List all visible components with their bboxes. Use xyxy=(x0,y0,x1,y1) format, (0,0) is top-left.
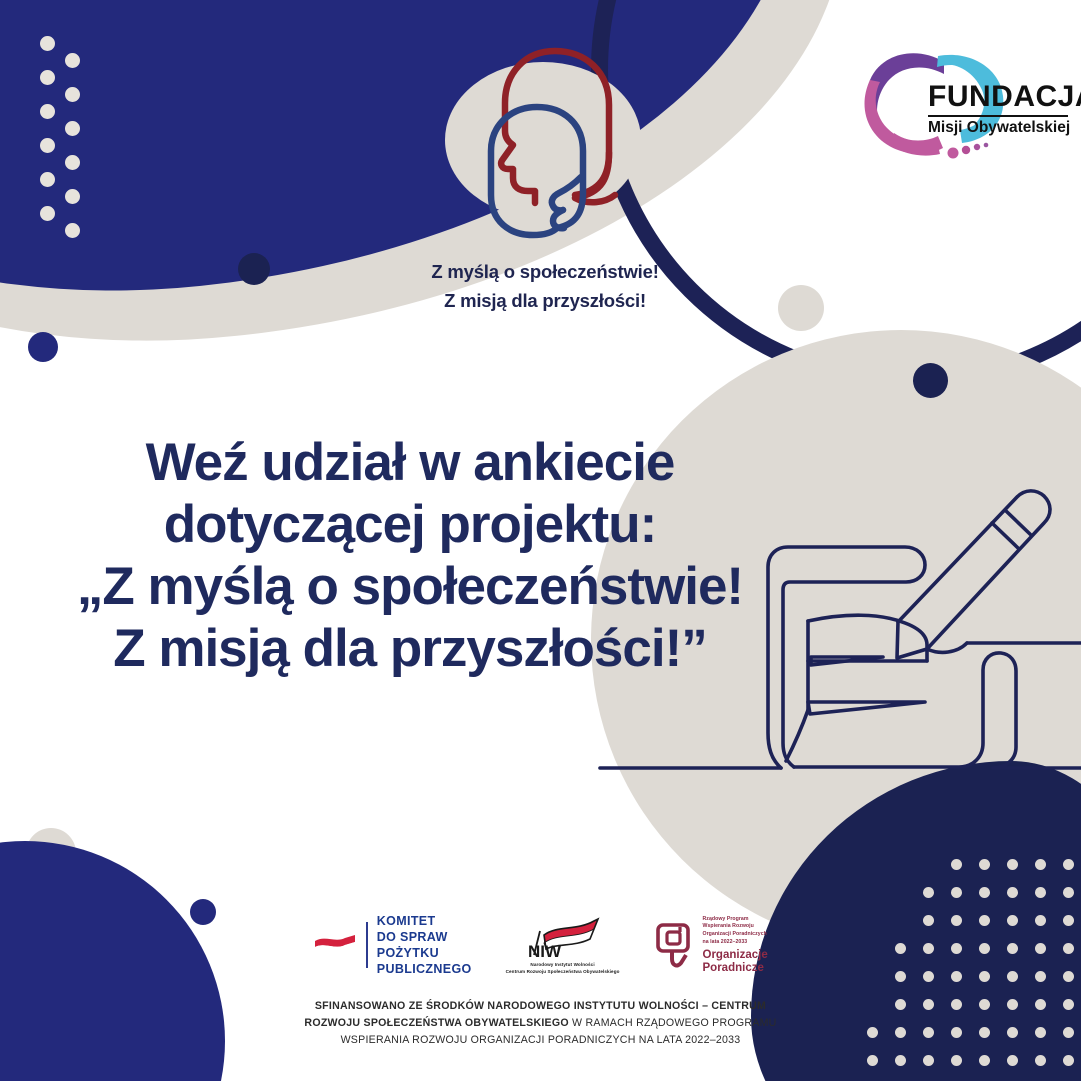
orgpor-small-line-2: Wspierania Rozwoju xyxy=(703,923,768,931)
logo-divider xyxy=(366,922,368,968)
komitet-line-4: PUBLICZNEGO xyxy=(377,961,472,977)
footer-funding-statement: SFINANSOWANO ZE ŚRODKÓW NARODOWEGO INSTY… xyxy=(0,998,1081,1049)
logo-divider xyxy=(928,115,1068,117)
orgpor-small-text: Rządowy Program Wspierania Rozwoju Organ… xyxy=(703,916,768,947)
logo-organizacje-poradnicze[interactable]: Rządowy Program Wspierania Rozwoju Organ… xyxy=(654,916,768,975)
accent-dot-3 xyxy=(778,285,824,331)
svg-text:NIW: NIW xyxy=(528,942,562,961)
funding-line-2-bold: ROZWOJU SPOŁECZEŃSTWA OBYWATELSKIEGO xyxy=(304,1017,568,1029)
niw-mark-icon: NIW xyxy=(520,915,606,961)
poster-canvas: FUNDACJA Misji Obywatelskiej Z myślą o s… xyxy=(0,0,1081,1081)
orgpor-big-line-1: Organizacje xyxy=(703,949,768,962)
tagline: Z myślą o społeczeństwie! Z misją dla pr… xyxy=(360,258,730,315)
orgpor-small-line-3: Organizacji Poradniczych xyxy=(703,931,768,939)
orgpor-small-line-4: na lata 2022–2033 xyxy=(703,939,768,947)
funding-line-2-rest: W RAMACH RZĄDOWEGO PROGRAMU xyxy=(569,1017,777,1029)
fundacja-logo[interactable]: FUNDACJA Misji Obywatelskiej xyxy=(848,40,1063,165)
faces-illustration xyxy=(425,35,660,270)
accent-dot-4 xyxy=(913,363,948,398)
accent-dot-1 xyxy=(238,253,270,285)
logo-komitet-do-spraw-pozytku-publicznego[interactable]: KOMITET DO SPRAW POŻYTKU PUBLICZNEGO xyxy=(313,913,471,977)
komitet-line-3: POŻYTKU xyxy=(377,945,472,961)
niw-subtitle: Narodowy Instytut Wolności Centrum Rozwo… xyxy=(506,962,620,976)
funding-line-3: WSPIERANIA ROZWOJU ORGANIZACJI PORADNICZ… xyxy=(0,1032,1081,1049)
orgpor-small-line-1: Rządowy Program xyxy=(703,916,768,924)
clipboard-pencil-illustration xyxy=(595,465,1081,785)
tagline-line-1: Z myślą o społeczeństwie! xyxy=(360,258,730,287)
accent-dot-5 xyxy=(26,828,76,878)
logo-subtitle: Misji Obywatelskiej xyxy=(928,119,1068,137)
funding-line-2: ROZWOJU SPOŁECZEŃSTWA OBYWATELSKIEGO W R… xyxy=(0,1015,1081,1032)
footer-logos: KOMITET DO SPRAW POŻYTKU PUBLICZNEGO NIW… xyxy=(0,905,1081,985)
accent-dot-2 xyxy=(28,332,58,362)
logo-narodowy-instytut-wolnosci[interactable]: NIW Narodowy Instytut Wolności Centrum R… xyxy=(506,915,620,976)
funding-line-1: SFINANSOWANO ZE ŚRODKÓW NARODOWEGO INSTY… xyxy=(0,998,1081,1015)
komitet-line-1: KOMITET xyxy=(377,913,472,929)
top-left-dot-column xyxy=(40,28,110,208)
niw-subtitle-line-1: Narodowy Instytut Wolności xyxy=(506,962,620,969)
organizacje-poradnicze-icon xyxy=(654,919,696,971)
orgpor-big-text: Organizacje Poradnicze xyxy=(703,949,768,975)
komitet-line-2: DO SPRAW xyxy=(377,929,472,945)
orgpor-big-line-2: Poradnicze xyxy=(703,962,768,975)
polish-flag-icon xyxy=(313,930,357,960)
komitet-logo-text: KOMITET DO SPRAW POŻYTKU PUBLICZNEGO xyxy=(377,913,472,977)
logo-title: FUNDACJA xyxy=(928,82,1068,112)
niw-subtitle-line-2: Centrum Rozwoju Społeczeństwa Obywatelsk… xyxy=(506,969,620,976)
tagline-line-2: Z misją dla przyszłości! xyxy=(360,287,730,316)
